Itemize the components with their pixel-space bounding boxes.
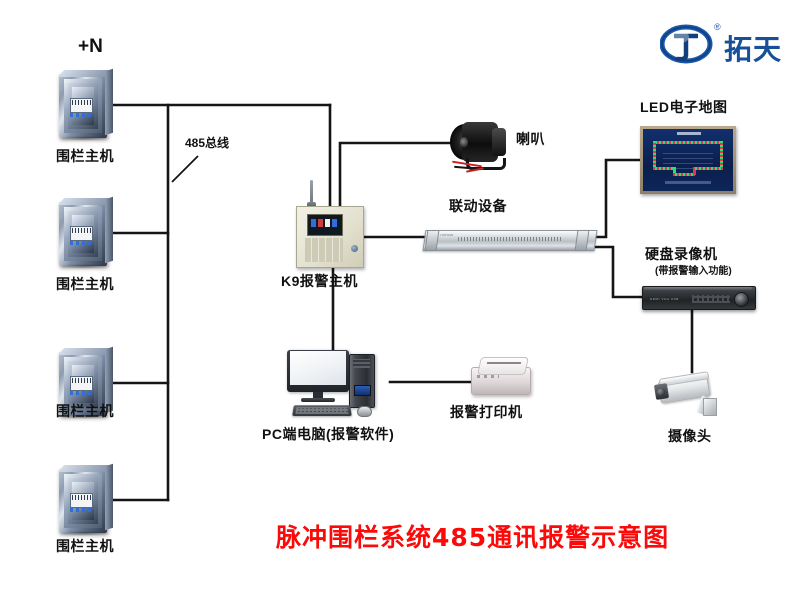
alarm-host-label: K9报警主机 xyxy=(281,273,358,289)
brand-name: 拓天 xyxy=(724,28,782,68)
speaker-wires xyxy=(452,162,486,171)
alarm-host-keypad[interactable] xyxy=(305,238,343,262)
fence-host-icon[interactable] xyxy=(55,68,115,142)
led-map-icon[interactable] xyxy=(640,126,736,194)
fence-host-body xyxy=(59,74,107,138)
led-map-screen xyxy=(643,129,733,191)
pc-icon[interactable] xyxy=(287,348,387,420)
pc-label: PC端电脑(报警软件) xyxy=(262,426,394,442)
page-title: 脉冲围栏系统485通讯报警示意图 xyxy=(276,518,669,554)
dvr-label: 硬盘录像机 xyxy=(645,246,718,262)
printer-icon[interactable] xyxy=(471,355,535,399)
led-map-label: LED电子地图 xyxy=(640,99,728,115)
fence-host-2-label: 围栏主机 xyxy=(56,276,114,292)
alarm-host-display xyxy=(307,214,343,236)
fence-host-1-label: 围栏主机 xyxy=(56,148,114,164)
alarm-host-body xyxy=(296,206,364,268)
bus-label: 485总线 xyxy=(185,137,229,151)
plus-n-label: +N xyxy=(78,36,103,58)
speaker-icon[interactable] xyxy=(450,118,524,176)
camera-label: 摄像头 xyxy=(668,428,712,444)
alarm-host-lock-icon xyxy=(351,245,358,252)
brand-logo: ® 拓天 xyxy=(660,22,790,66)
alarm-host-icon[interactable] xyxy=(296,180,366,270)
tower-icon xyxy=(349,354,375,408)
camera-icon[interactable] xyxy=(655,372,729,430)
linkage-device-icon[interactable]: TUOTIAN xyxy=(424,228,594,252)
tuotian-logo-mark xyxy=(660,24,714,64)
dvr-jog-dial[interactable] xyxy=(734,292,749,307)
fence-host-icon[interactable] xyxy=(55,196,115,270)
fence-host-body xyxy=(59,469,107,533)
printer-label: 报警打印机 xyxy=(450,404,523,420)
bus-leader-line xyxy=(168,150,208,190)
speaker-label: 喇叭 xyxy=(516,131,545,147)
linkage-device-label: 联动设备 xyxy=(449,198,507,214)
fence-host-3-label: 围栏主机 xyxy=(56,403,114,419)
registered-mark: ® xyxy=(714,22,721,32)
dvr-icon[interactable]: HDMI VGA USB xyxy=(642,286,754,312)
mouse-icon[interactable] xyxy=(357,406,372,417)
fence-host-4-label: 围栏主机 xyxy=(56,538,114,554)
keyboard-icon[interactable] xyxy=(292,405,352,416)
fence-host-icon[interactable] xyxy=(55,463,115,537)
dvr-sublabel: (带报警输入功能) xyxy=(655,266,732,278)
fence-host-body xyxy=(59,202,107,266)
